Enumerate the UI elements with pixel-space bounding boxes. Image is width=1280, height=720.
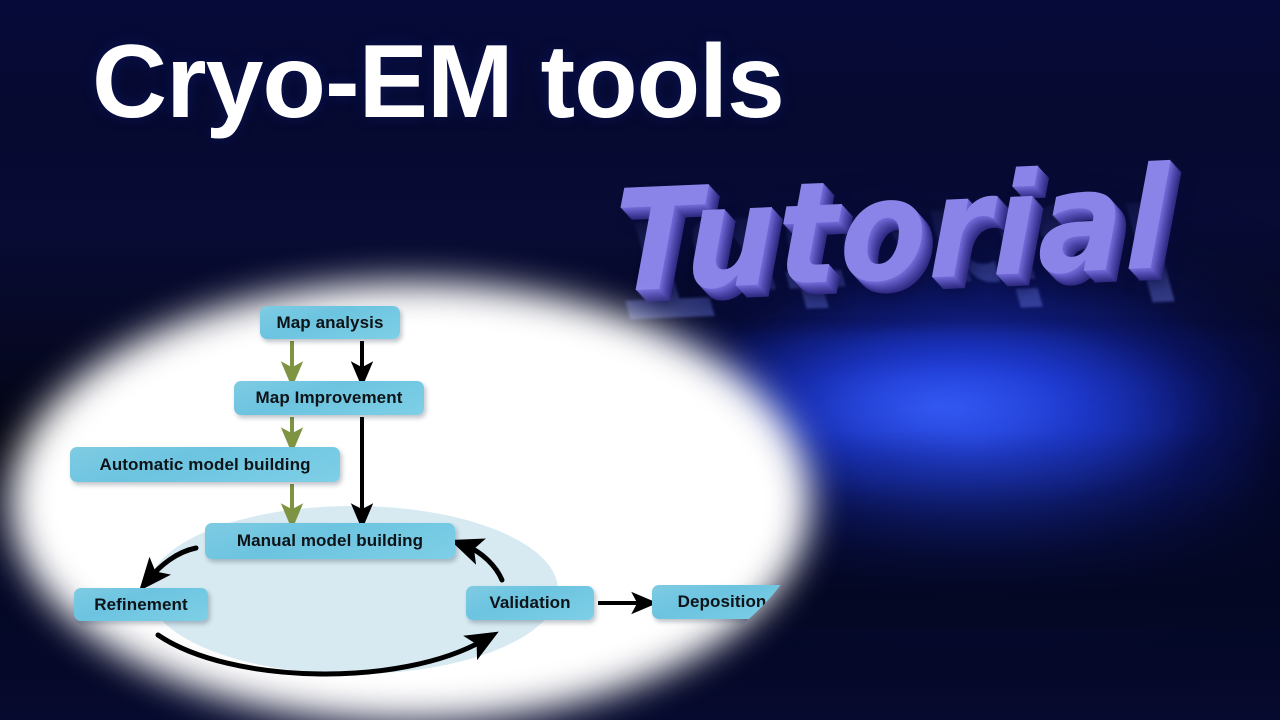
node-map-improvement-label: Map Improvement: [256, 388, 403, 408]
node-automatic-model-building-label: Automatic model building: [99, 455, 310, 475]
node-refinement-label: Refinement: [94, 595, 188, 615]
node-validation-label: Validation: [489, 593, 570, 613]
node-map-analysis[interactable]: Map analysis: [260, 306, 400, 339]
node-manual-model-building[interactable]: Manual model building: [205, 523, 455, 559]
slide-canvas: Tutorial Tutorial Cryo-EM tools: [0, 0, 1280, 720]
node-automatic-model-building[interactable]: Automatic model building: [70, 447, 340, 482]
node-deposition-label: Deposition: [678, 592, 767, 612]
node-map-analysis-label: Map analysis: [276, 313, 383, 333]
node-deposition[interactable]: Deposition: [652, 585, 792, 619]
node-validation[interactable]: Validation: [466, 586, 594, 620]
node-manual-model-building-label: Manual model building: [237, 531, 423, 551]
node-refinement[interactable]: Refinement: [74, 588, 208, 621]
node-map-improvement[interactable]: Map Improvement: [234, 381, 424, 415]
flowchart-region: Map analysis Map Improvement Automatic m…: [10, 282, 810, 720]
slide-title: Cryo-EM tools: [92, 28, 784, 137]
